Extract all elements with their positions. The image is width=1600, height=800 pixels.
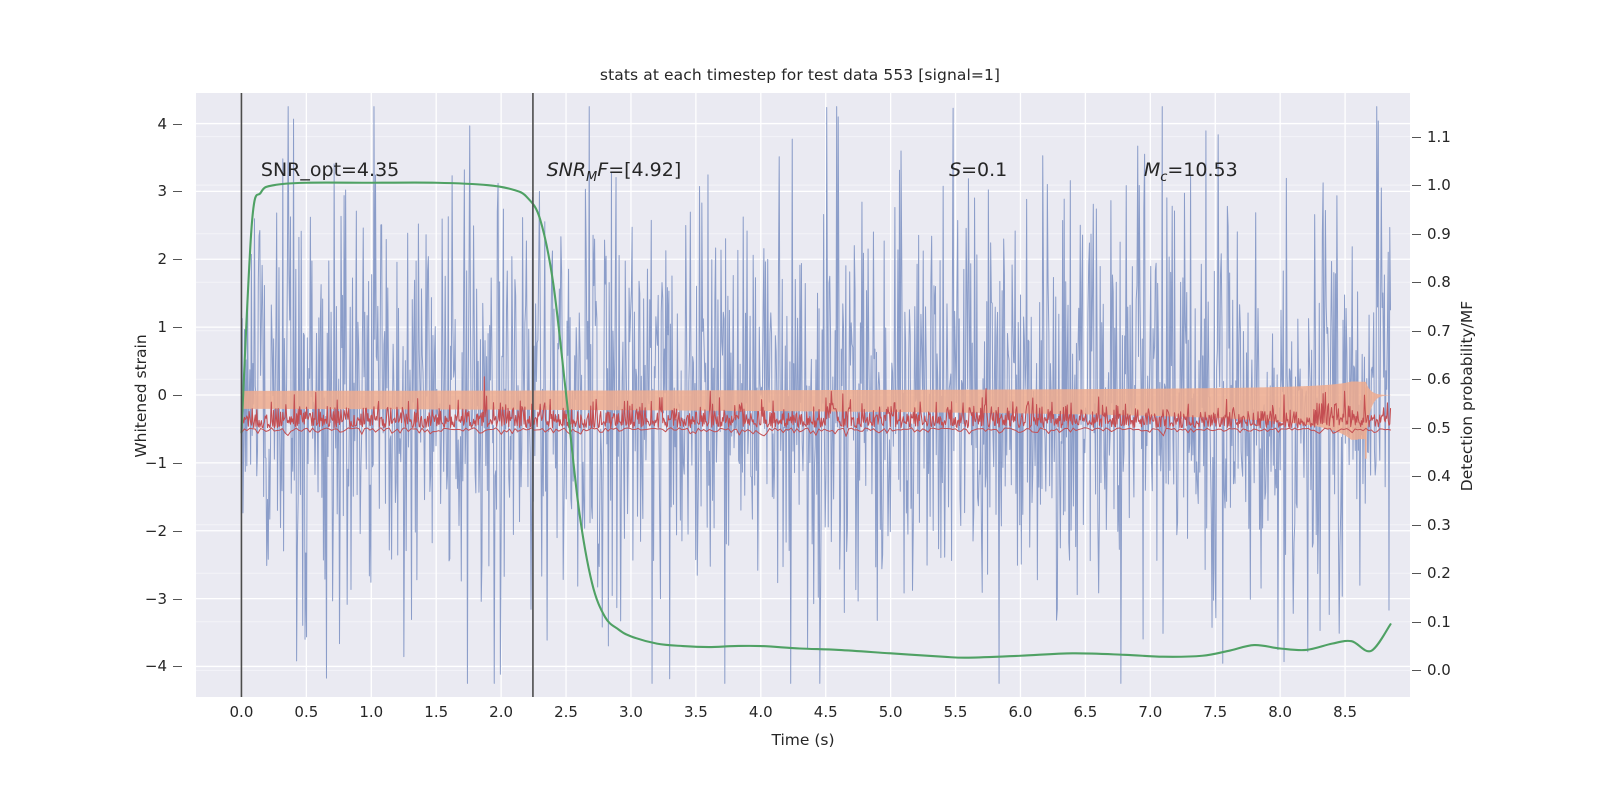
y-tick-left-7: −3 [145,590,182,608]
y-tick-left-1: 3 [157,182,182,200]
x-tick-7: 3.5 [684,703,708,721]
x-tick-3: 1.5 [424,703,448,721]
x-tick-6: 3.0 [619,703,643,721]
y-tick-left-5: −1 [145,454,182,472]
y-tick-right-9: 0.2 [1412,564,1451,582]
x-tick-5: 2.5 [554,703,578,721]
x-tick-4: 2.0 [489,703,513,721]
x-tick-1: 0.5 [294,703,318,721]
y-tick-right-1: 1.0 [1412,176,1451,194]
x-tick-9: 4.5 [814,703,838,721]
annotation-layer: SNR_opt=4.35SNRMF=[4.92]S=0.1Mc=10.53 [196,93,1410,697]
x-tick-2: 1.0 [359,703,383,721]
x-tick-12: 6.0 [1009,703,1033,721]
y-tick-right-4: 0.7 [1412,322,1451,340]
y-tick-right-0: 1.1 [1412,128,1451,146]
page-title: stats at each timestep for test data 553… [0,66,1600,84]
y-tick-right-3: 0.8 [1412,273,1451,291]
annotation-chirp-mass: Mc=10.53 [1144,159,1238,185]
y-tick-right-11: 0.0 [1412,661,1451,679]
annotation-snr-mf: SNRMF=[4.92] [547,159,682,185]
x-tick-11: 5.5 [944,703,968,721]
y-tick-right-6: 0.5 [1412,419,1451,437]
y-tick-left-4: 0 [157,386,182,404]
x-tick-8: 4.0 [749,703,773,721]
x-tick-14: 7.0 [1138,703,1162,721]
x-tick-15: 7.5 [1203,703,1227,721]
x-tick-16: 8.0 [1268,703,1292,721]
y-tick-left-6: −2 [145,522,182,540]
y-axis-label-left: Whitened strain [132,334,150,457]
y-tick-left-2: 2 [157,250,182,268]
plot-area: SNR_opt=4.35SNRMF=[4.92]S=0.1Mc=10.53 si… [196,93,1410,697]
x-axis-label: Time (s) [771,731,834,749]
y-tick-right-10: 0.1 [1412,613,1451,631]
y-tick-right-5: 0.6 [1412,370,1451,388]
y-tick-left-8: −4 [145,657,182,675]
y-tick-left-3: 1 [157,318,182,336]
y-tick-right-7: 0.4 [1412,467,1451,485]
x-tick-13: 6.5 [1073,703,1097,721]
annotation-snr-opt: SNR_opt=4.35 [261,159,399,181]
y-tick-right-2: 0.9 [1412,225,1451,243]
annotation-s-stat: S=0.1 [949,159,1007,181]
x-tick-17: 8.5 [1333,703,1357,721]
y-tick-right-8: 0.3 [1412,516,1451,534]
figure: stats at each timestep for test data 553… [0,0,1600,800]
x-tick-10: 5.0 [879,703,903,721]
x-tick-0: 0.0 [230,703,254,721]
y-tick-left-0: 4 [157,115,182,133]
y-axis-label-right: Detection probability/MF [1458,301,1476,491]
